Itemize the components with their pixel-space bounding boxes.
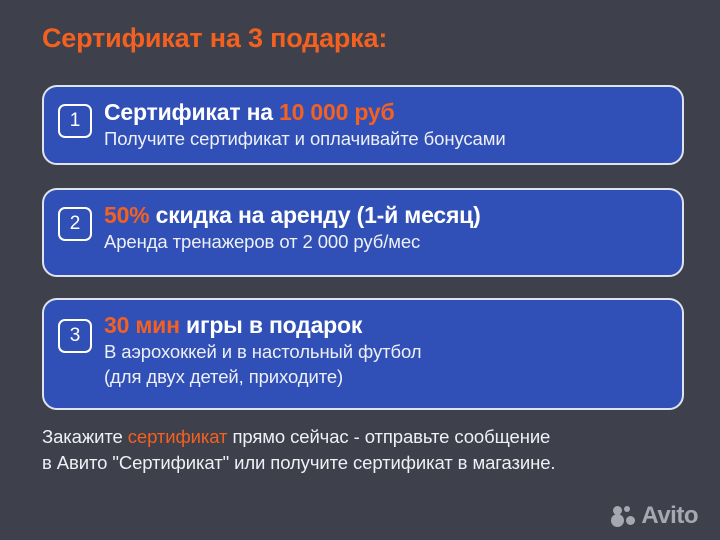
- offer-subtitle: В аэрохоккей и в настольный футбол: [104, 340, 682, 364]
- offer-card-1[interactable]: 1 Сертификат на 10 000 руб Получите серт…: [42, 85, 684, 165]
- offer-number-badge: 2: [58, 207, 92, 241]
- promo-banner: Сертификат на 3 подарка: 1 Сертификат на…: [0, 0, 720, 540]
- offer-card-body: 50% скидка на аренду (1-й месяц) Аренда …: [104, 200, 682, 254]
- avito-dots-logo-icon: [611, 505, 636, 528]
- offer-card-body: 30 мин игры в подарок В аэрохоккей и в н…: [104, 310, 682, 388]
- offer-number-badge: 1: [58, 104, 92, 138]
- offer-heading: 30 мин игры в подарок: [104, 312, 682, 339]
- footer-highlight: сертификат: [128, 426, 228, 447]
- offer-heading-text-before: Сертификат на: [104, 99, 279, 125]
- offer-heading: Сертификат на 10 000 руб: [104, 99, 682, 126]
- footer-instructions: Закажите сертификат прямо сейчас - отпра…: [42, 424, 692, 477]
- offer-subtitle: Аренда тренажеров от 2 000 руб/мес: [104, 230, 682, 254]
- offer-card-2[interactable]: 2 50% скидка на аренду (1-й месяц) Аренд…: [42, 188, 684, 277]
- footer-line-1: Закажите сертификат прямо сейчас - отпра…: [42, 424, 692, 450]
- footer-line-2: в Авито "Сертификат" или получите сертиф…: [42, 450, 692, 476]
- footer-text-before: Закажите: [42, 426, 128, 447]
- offer-heading: 50% скидка на аренду (1-й месяц): [104, 202, 682, 229]
- avito-brand-label: Avito: [641, 504, 698, 528]
- offer-subtitle-secondary: (для двух детей, приходите): [104, 365, 682, 389]
- avito-watermark: Avito: [611, 504, 698, 528]
- offer-heading-text-after: скидка на аренду (1-й месяц): [149, 202, 480, 228]
- offer-heading-highlight: 10 000 руб: [279, 99, 394, 125]
- offer-number-badge: 3: [58, 319, 92, 353]
- offer-card-body: Сертификат на 10 000 руб Получите сертиф…: [104, 97, 682, 151]
- offer-subtitle: Получите сертификат и оплачивайте бонуса…: [104, 127, 682, 151]
- offer-card-3[interactable]: 3 30 мин игры в подарок В аэрохоккей и в…: [42, 298, 684, 410]
- offer-heading-highlight: 50%: [104, 202, 149, 228]
- offer-heading-highlight: 30 мин: [104, 312, 180, 338]
- page-title: Сертификат на 3 подарка:: [42, 23, 387, 54]
- footer-text-after: прямо сейчас - отправьте сообщение: [227, 426, 550, 447]
- offer-heading-text-after: игры в подарок: [180, 312, 362, 338]
